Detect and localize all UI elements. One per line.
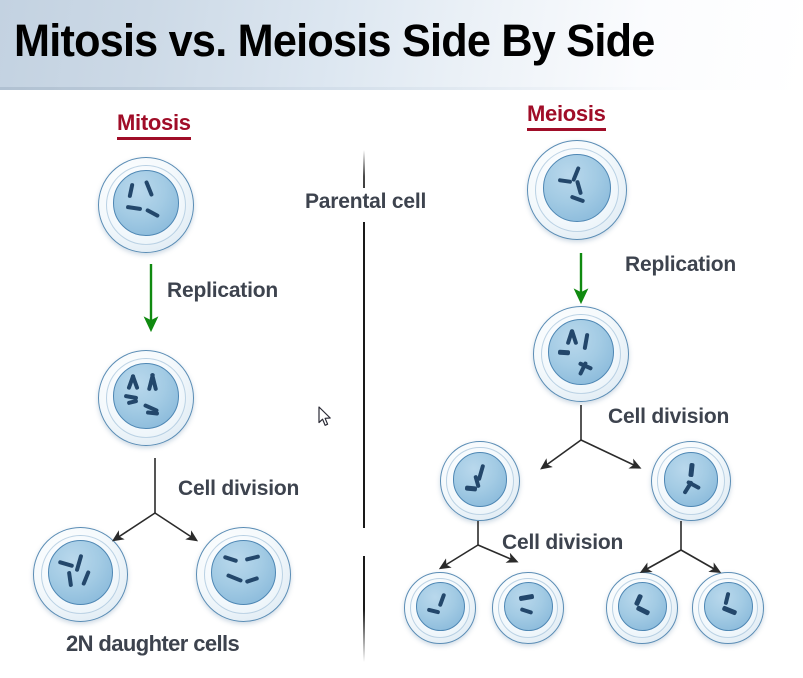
mouse-cursor-icon xyxy=(318,406,334,428)
label-replication-mitosis: Replication xyxy=(167,279,278,303)
divider-text-gap-lower xyxy=(356,528,368,556)
divider-line-main xyxy=(363,222,365,662)
cell-meiosis-daughter-1 xyxy=(404,572,476,644)
chromosome xyxy=(144,180,154,197)
cell-meiosis-replicated xyxy=(533,306,629,402)
chromosome xyxy=(67,571,73,587)
chromosome-replicated xyxy=(127,399,139,406)
chromosome xyxy=(58,560,74,568)
cell-mitosis-replicated xyxy=(98,350,194,446)
chromosome-replicated xyxy=(558,349,570,355)
label-cell-division-meiosis-2: Cell division xyxy=(502,531,623,555)
chromosome xyxy=(570,195,585,204)
nucleus xyxy=(664,452,719,507)
chromosome xyxy=(636,605,651,616)
nucleus xyxy=(416,582,465,631)
cell-mitosis-daughter-1 xyxy=(33,527,128,622)
cell-mitosis-parental xyxy=(98,157,194,253)
label-2n-daughter-cells: 2N daughter cells xyxy=(66,631,239,657)
chromosome xyxy=(145,207,160,218)
chromosome xyxy=(244,576,259,584)
chromosome-replicated xyxy=(688,462,694,476)
chromosome-replicated xyxy=(582,333,589,350)
label-cell-division-meiosis-1: Cell division xyxy=(608,405,729,429)
diagram-canvas: Mitosis vs. Meiosis Side By Side Mitosis… xyxy=(0,0,803,678)
column-heading-meiosis: Meiosis xyxy=(527,101,606,131)
chromosome-replicated xyxy=(570,329,579,345)
chromosome xyxy=(125,205,141,211)
cell-meiosis-intermediate-1 xyxy=(440,441,520,521)
chromosome xyxy=(81,570,91,586)
chromosome xyxy=(520,607,534,615)
cell-meiosis-daughter-3 xyxy=(606,572,678,644)
nucleus xyxy=(543,154,612,223)
page-title: Mitosis vs. Meiosis Side By Side xyxy=(14,13,654,69)
chromosome xyxy=(223,555,239,563)
cell-meiosis-intermediate-2 xyxy=(651,441,731,521)
cell-meiosis-parental xyxy=(527,140,627,240)
cell-mitosis-daughter-2 xyxy=(196,527,291,622)
column-heading-mitosis: Mitosis xyxy=(117,110,191,140)
cell-meiosis-daughter-4 xyxy=(692,572,764,644)
chromosome xyxy=(244,554,260,562)
cell-meiosis-daughter-2 xyxy=(492,572,564,644)
chromosome xyxy=(226,573,243,583)
chromosome-replicated xyxy=(465,485,477,491)
nucleus xyxy=(211,540,276,605)
nucleus xyxy=(48,540,113,605)
chromosome xyxy=(74,553,83,571)
nucleus xyxy=(504,582,553,631)
nucleus xyxy=(548,319,614,385)
nucleus xyxy=(113,170,179,236)
chromosome xyxy=(128,182,135,198)
label-replication-meiosis: Replication xyxy=(625,253,736,277)
nucleus xyxy=(618,582,667,631)
chromosome-replicated xyxy=(146,410,159,415)
chromosome xyxy=(575,180,583,196)
chromosome xyxy=(518,594,534,602)
nucleus xyxy=(113,363,179,429)
chromosome xyxy=(438,593,447,608)
label-cell-division-mitosis: Cell division xyxy=(178,477,299,501)
cell-division-fork-meiosis-2b xyxy=(645,521,716,570)
chromosome xyxy=(427,608,441,615)
label-parental-cell: Parental cell xyxy=(305,190,426,214)
nucleus xyxy=(453,452,508,507)
chromosome xyxy=(558,178,572,184)
nucleus xyxy=(704,582,753,631)
chromosome xyxy=(722,606,738,616)
chromosome xyxy=(724,592,731,606)
